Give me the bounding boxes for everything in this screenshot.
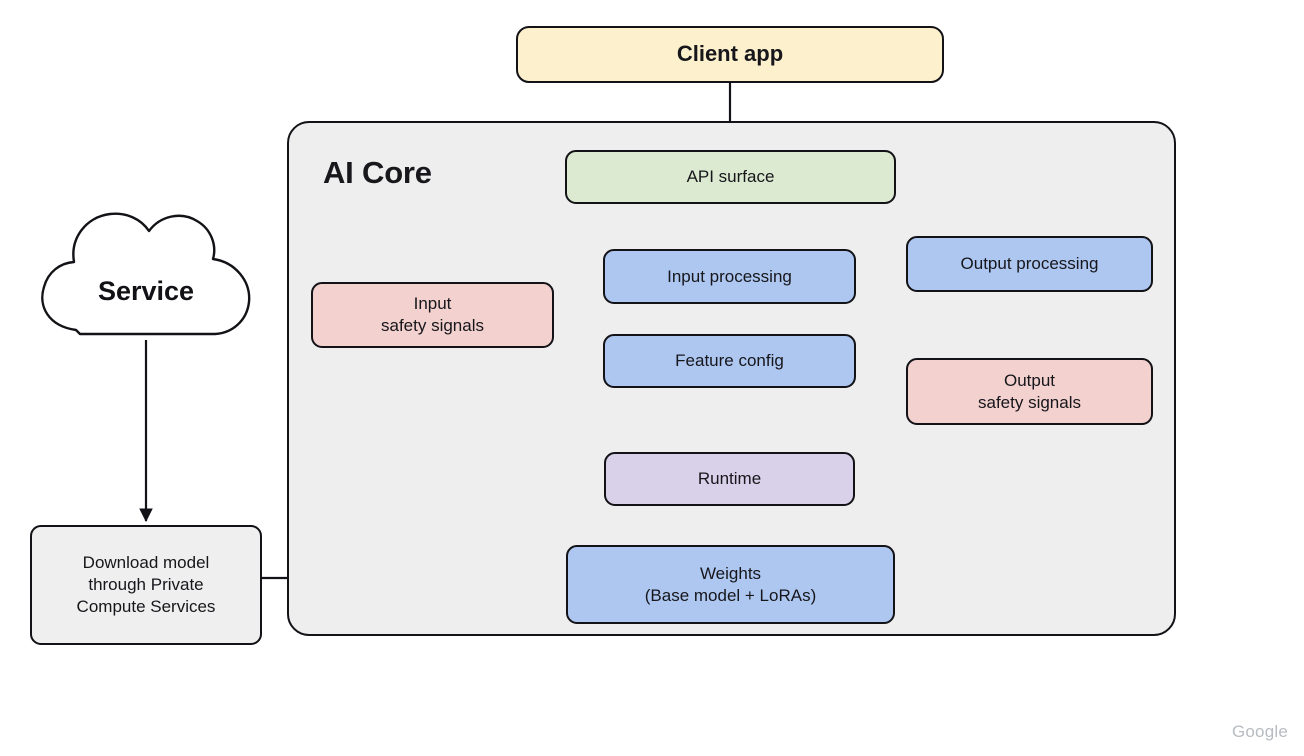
ai-core-title: AI Core — [323, 155, 432, 191]
node-download-model[interactable]: Download model through Private Compute S… — [30, 525, 262, 645]
node-client-app[interactable]: Client app — [516, 26, 944, 83]
node-api-surface[interactable]: API surface — [565, 150, 896, 204]
node-input-processing[interactable]: Input processing — [603, 249, 856, 304]
node-input-safety-signals[interactable]: Input safety signals — [311, 282, 554, 348]
google-watermark: Google — [1232, 722, 1288, 742]
node-output-processing[interactable]: Output processing — [906, 236, 1153, 292]
service-cloud-icon — [42, 214, 249, 334]
service-label: Service — [38, 276, 254, 307]
node-weights[interactable]: Weights (Base model + LoRAs) — [566, 545, 895, 624]
node-output-safety-signals[interactable]: Output safety signals — [906, 358, 1153, 425]
node-feature-config[interactable]: Feature config — [603, 334, 856, 388]
node-runtime[interactable]: Runtime — [604, 452, 855, 506]
